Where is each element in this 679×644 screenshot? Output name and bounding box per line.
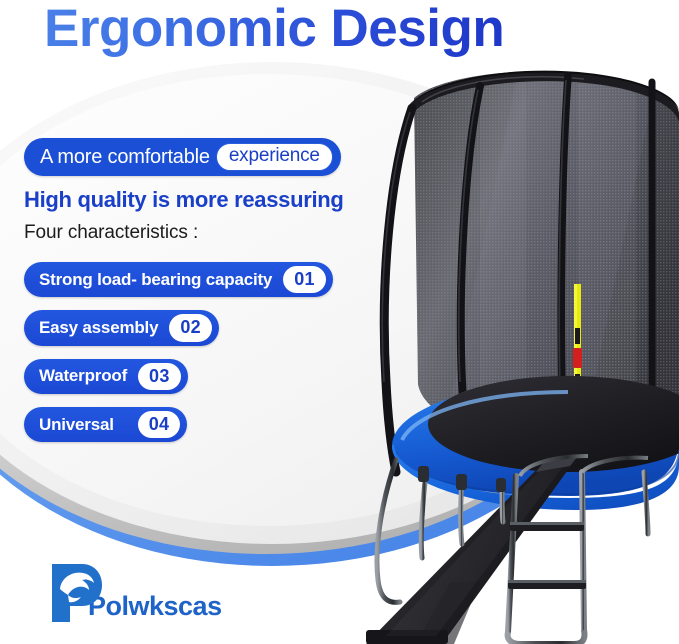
experience-capsule: experience bbox=[216, 143, 333, 171]
safety-net-enclosure bbox=[400, 62, 679, 452]
black-slide bbox=[366, 456, 578, 644]
page-title: Ergonomic Design bbox=[44, 0, 504, 59]
enclosure-poles-highlight bbox=[382, 80, 566, 392]
support-legs bbox=[377, 460, 648, 602]
comfort-headline-pill: A more comfortable experience bbox=[24, 138, 341, 176]
brand-logo: Polwkscas bbox=[48, 562, 222, 624]
feature-number-badge: 02 bbox=[169, 314, 212, 341]
feature-label: Universal bbox=[39, 415, 114, 435]
leg-joints bbox=[418, 466, 506, 492]
feature-pill-3: Waterproof 03 bbox=[24, 359, 188, 394]
enclosure-top-rim bbox=[410, 71, 679, 122]
subheading: High quality is more reassuring bbox=[24, 187, 384, 213]
feature-label: Strong load- bearing capacity bbox=[39, 270, 272, 290]
feature-pill-1: Strong load- bearing capacity 01 bbox=[24, 262, 333, 297]
feature-number-badge: 01 bbox=[283, 266, 326, 293]
product-feature-banner: Ergonomic Design A more comfortable expe… bbox=[0, 0, 679, 644]
feature-label: Easy assembly bbox=[39, 318, 158, 338]
feature-row: Waterproof 03 bbox=[24, 359, 384, 407]
jump-mat: ▰▰▰▰▰▰▰ bbox=[420, 372, 679, 482]
svg-text:▰▰▰▰▰▰▰: ▰▰▰▰▰▰▰ bbox=[580, 436, 635, 446]
dolphin-in-p-icon bbox=[48, 562, 104, 624]
zipper-strip bbox=[573, 284, 582, 420]
blue-spring-pad bbox=[392, 376, 679, 510]
intro-line: Four characteristics : bbox=[24, 222, 384, 244]
feature-pill-4: Universal 04 bbox=[24, 407, 187, 442]
copy-block: A more comfortable experience High quali… bbox=[24, 138, 384, 455]
feature-number-badge: 03 bbox=[138, 363, 181, 390]
enclosure-poles bbox=[384, 76, 652, 472]
feature-row: Universal 04 bbox=[24, 407, 384, 455]
brand-name: Polwkscas bbox=[88, 591, 222, 622]
feature-number-badge: 04 bbox=[138, 411, 181, 438]
comfort-headline-text: A more comfortable bbox=[40, 146, 210, 169]
metal-ladder bbox=[508, 456, 648, 644]
feature-list: Strong load- bearing capacity 01 Easy as… bbox=[24, 262, 384, 455]
feature-row: Easy assembly 02 bbox=[24, 310, 384, 358]
feature-row: Strong load- bearing capacity 01 bbox=[24, 262, 384, 310]
feature-label: Waterproof bbox=[39, 366, 127, 386]
feature-pill-2: Easy assembly 02 bbox=[24, 310, 219, 345]
